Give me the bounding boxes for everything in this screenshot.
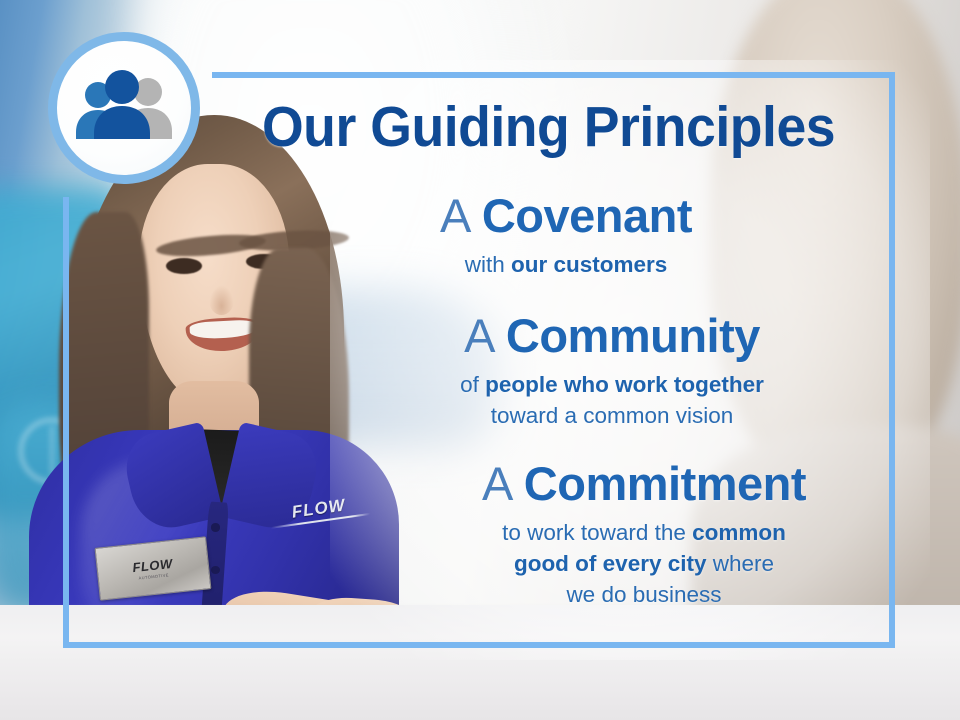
subtext-run: toward a common vision — [491, 403, 734, 428]
principles-text-block: Our Guiding Principles A Covenant with o… — [63, 72, 895, 648]
subtext-run: we do business — [566, 582, 721, 607]
principle-commitment-heading: A Commitment — [393, 458, 895, 510]
subtext-run: with — [465, 252, 511, 277]
subtext-emphasis: our customers — [511, 252, 667, 277]
subtext-emphasis: good of every city — [514, 551, 707, 576]
principle-community-word: Community — [506, 309, 760, 362]
principle-community-heading: A Community — [329, 310, 895, 362]
subtext-line: good of every city where — [393, 548, 895, 579]
subtext-line: toward a common vision — [329, 400, 895, 431]
principle-covenant: A Covenant with our customers — [63, 190, 895, 280]
subtext-line: with our customers — [237, 249, 895, 280]
principle-covenant-article: A — [440, 189, 469, 242]
subtext-run: where — [707, 551, 775, 576]
principle-covenant-subtext: with our customers — [237, 249, 895, 280]
subtext-run: to work toward the — [502, 520, 692, 545]
principle-covenant-heading: A Covenant — [237, 190, 895, 242]
page-title: Our Guiding Principles — [88, 98, 870, 156]
principle-commitment-subtext: to work toward the commongood of every c… — [393, 517, 895, 610]
principle-community: A Community of people who work togethert… — [63, 310, 895, 431]
principle-commitment: A Commitment to work toward the commongo… — [63, 458, 895, 610]
subtext-run: of — [460, 372, 485, 397]
principle-commitment-word: Commitment — [524, 457, 806, 510]
principle-community-article: A — [464, 309, 493, 362]
subtext-line: to work toward the common — [393, 517, 895, 548]
guiding-principles-graphic: FLOW FLOW AUTOMOTIVE — [0, 0, 960, 720]
subtext-emphasis: people who work together — [485, 372, 764, 397]
subtext-emphasis: common — [692, 520, 786, 545]
subtext-line: of people who work together — [329, 369, 895, 400]
principle-covenant-word: Covenant — [482, 189, 692, 242]
principle-commitment-article: A — [482, 457, 511, 510]
principle-community-subtext: of people who work togethertoward a comm… — [329, 369, 895, 431]
subtext-line: we do business — [393, 579, 895, 610]
